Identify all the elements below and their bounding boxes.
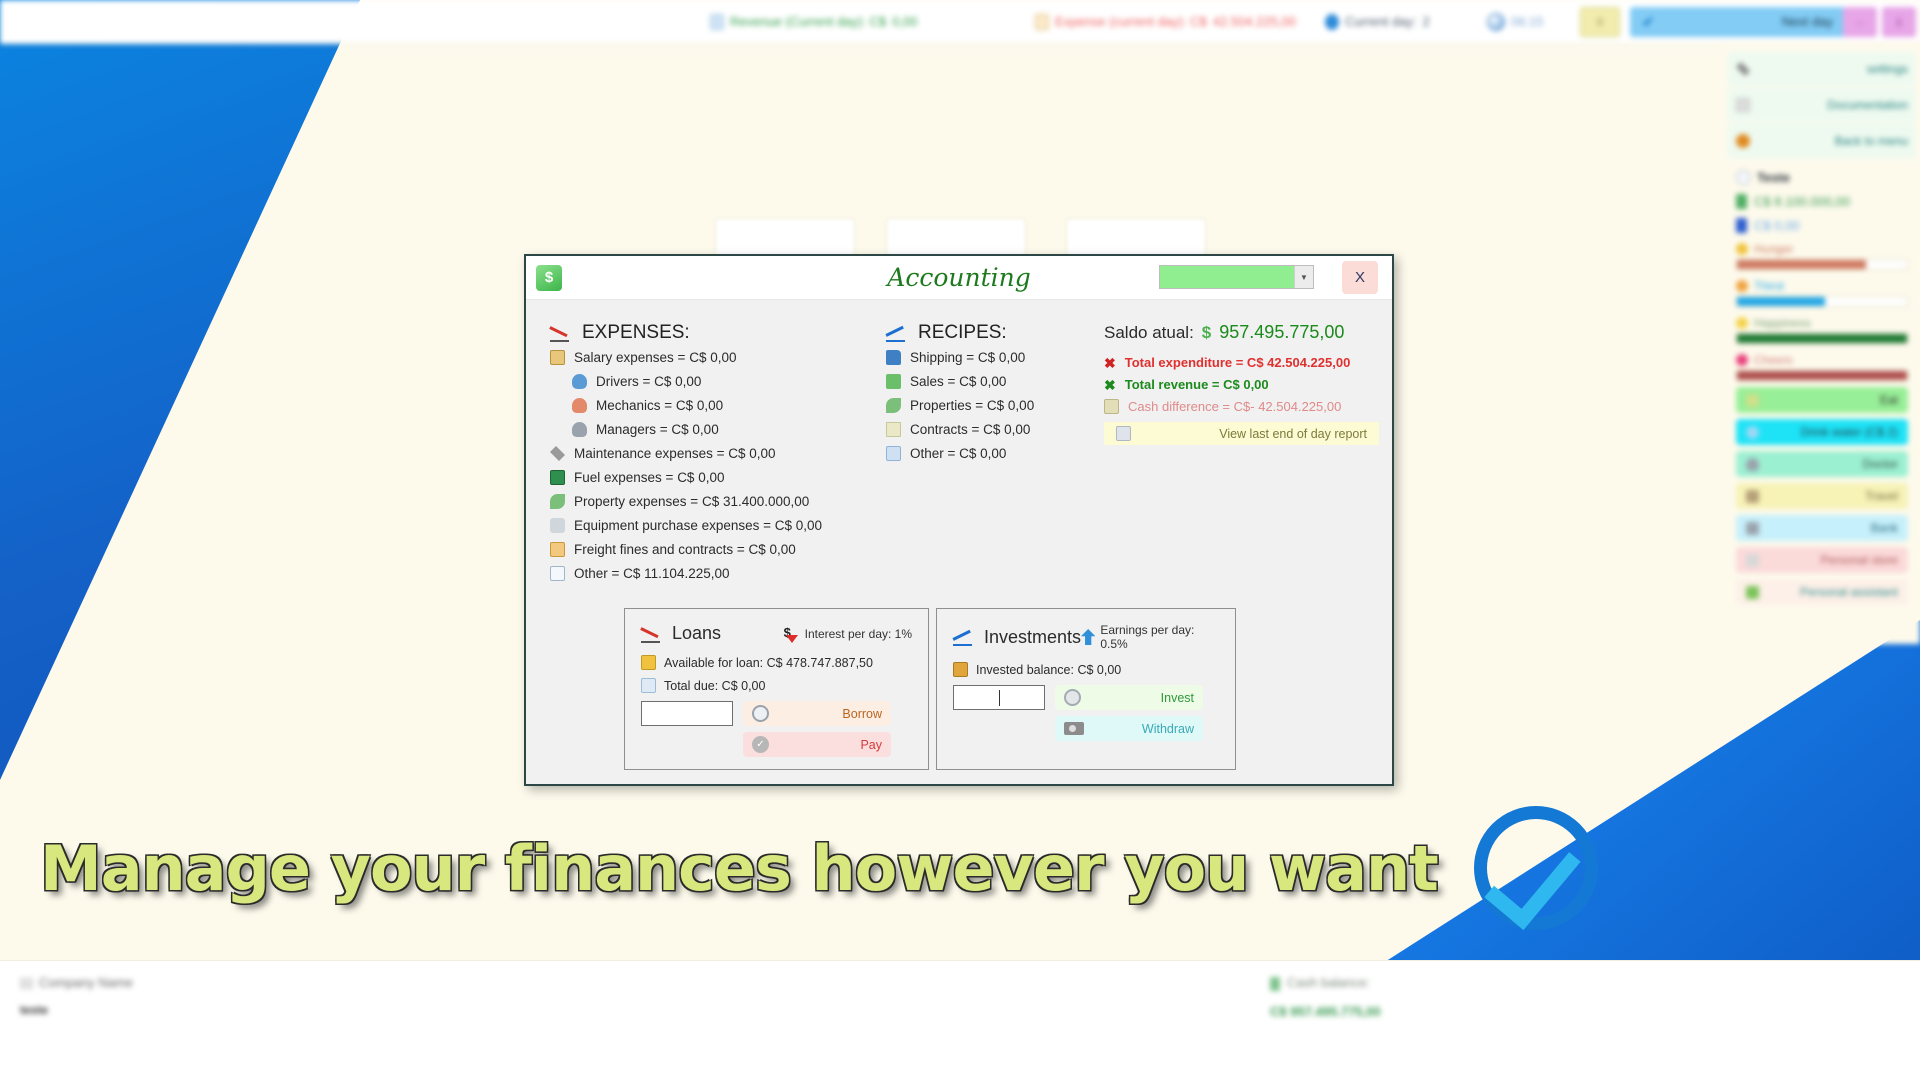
loans-header: Loans $ Interest per day: 1% [641, 623, 912, 644]
recipe-label: Shipping = C$ 0,00 [910, 350, 1025, 365]
action-personal-store-button[interactable]: Personal store [1736, 547, 1908, 573]
total-expenditure-label: Total expenditure = C$ 42.504.225,00 [1125, 355, 1351, 370]
revenue-indicator: Revenue (Current day): C$ 0,00 [710, 14, 917, 30]
view-last-report-button[interactable]: View last end of day report [1104, 422, 1379, 445]
player-cash-value: C$ 8.100.000,00 [1754, 194, 1850, 209]
cheers-bar [1736, 370, 1908, 381]
pause-button[interactable]: II [1580, 7, 1620, 37]
document-icon [550, 566, 565, 581]
x-mark-red-icon: ✖ [1104, 356, 1116, 370]
minimize-button[interactable]: – [1843, 7, 1877, 37]
equipment-icon [550, 518, 565, 533]
invest-label: Invest [1161, 691, 1194, 705]
note-icon [1104, 399, 1119, 414]
cash-balance-info: Cash balance: C$ 957.495.775,00 [1270, 975, 1381, 1019]
loans-available-label: Available for loan: C$ 478.747.887,50 [664, 656, 873, 670]
expenses-heading-row: EXPENSES: [550, 322, 870, 344]
loans-total-due-row: Total due: C$ 0,00 [641, 678, 912, 693]
pay-button[interactable]: ✓ Pay [743, 732, 891, 757]
expense-row-drivers: Drivers = C$ 0,00 [550, 374, 870, 389]
hunger-icon [1736, 243, 1748, 255]
property-icon [550, 494, 565, 509]
summary-section: Saldo atual: $ 957.495.775,00 ✖ Total ex… [1104, 322, 1379, 445]
trend-up-icon [953, 629, 975, 645]
investments-header: Investments Earnings per day: 0.5% [953, 623, 1219, 651]
investments-title: Investments [984, 627, 1081, 648]
promo-banner: Manage your finances however you want [40, 806, 1598, 930]
expense-label: Drivers = C$ 0,00 [596, 374, 701, 389]
total-expenditure-row: ✖ Total expenditure = C$ 42.504.225,00 [1104, 355, 1379, 370]
loans-title: Loans [672, 623, 721, 644]
withdraw-label: Withdraw [1142, 722, 1194, 736]
cash-icon [1736, 194, 1747, 209]
investments-balance-row: Invested balance: C$ 0,00 [953, 662, 1219, 677]
current-day-indicator: Current day: 2 [1325, 14, 1430, 30]
recipe-row-other: Other = C$ 0,00 [886, 446, 1101, 461]
sidebar-item-label: Documentation [1827, 98, 1908, 112]
recipe-label: Properties = C$ 0,00 [910, 398, 1034, 413]
bank-icon [1746, 522, 1759, 535]
expense-label: Freight fines and contracts = C$ 0,00 [574, 542, 796, 557]
loans-interest-row: $ Interest per day: 1% [784, 625, 912, 643]
happiness-icon [1736, 317, 1748, 329]
player-panel: Teste C$ 8.100.000,00 C$ 0,00 Hunger Thi… [1728, 170, 1916, 605]
invest-button[interactable]: Invest [1055, 685, 1203, 710]
banknote-icon [1064, 722, 1084, 735]
close-label: X [1895, 15, 1904, 30]
property-icon [886, 398, 901, 413]
stat-label-hunger: Hunger [1736, 242, 1908, 256]
invest-amount-input[interactable] [953, 685, 1045, 710]
expense-row-salary: Salary expenses = C$ 0,00 [550, 350, 870, 365]
stat-label-cheers: Cheers [1736, 353, 1908, 367]
minimize-label: – [1856, 15, 1863, 30]
trend-up-icon [886, 325, 908, 341]
player-cash-row: C$ 8.100.000,00 [1736, 194, 1908, 209]
clock-value: 06:15 [1511, 14, 1544, 29]
cash-label-row: Cash balance: [1270, 975, 1381, 991]
accounting-dollar-icon: $ [536, 265, 562, 291]
loan-amount-input[interactable] [641, 701, 733, 726]
investments-balance-label: Invested balance: C$ 0,00 [976, 663, 1121, 677]
dot-icon [1736, 134, 1750, 148]
saldo-value: 957.495.775,00 [1219, 322, 1344, 343]
action-label: Bank [1871, 521, 1898, 535]
wallet-icon [641, 655, 656, 670]
period-select[interactable]: ▼ [1159, 265, 1314, 289]
expense-label: Property expenses = C$ 31.400.000,00 [574, 494, 809, 509]
investments-title-row: Investments [953, 627, 1081, 648]
saldo-label: Saldo atual: [1104, 323, 1194, 343]
top-bar: Revenue (Current day): C$ 0,00 Expense (… [0, 0, 1920, 44]
total-revenue-label: Total revenue = C$ 0,00 [1125, 377, 1269, 392]
doctor-icon [1746, 458, 1759, 471]
investments-panel: Investments Earnings per day: 0.5% Inves… [936, 608, 1236, 770]
stat-name: Hunger [1754, 242, 1793, 256]
sale-icon [886, 374, 901, 389]
recipes-heading-row: RECIPES: [886, 322, 1101, 344]
store-icon [1746, 554, 1759, 567]
expense-value: 42.504.225,00 [1213, 14, 1296, 29]
company-label: Company Name [39, 975, 133, 990]
action-label: Travel [1865, 489, 1898, 503]
bank-card-icon [1736, 218, 1747, 233]
person-icon [1736, 170, 1751, 185]
truck-icon [886, 350, 901, 365]
card-icon [550, 542, 565, 557]
thirst-bar [1736, 296, 1908, 307]
dialog-body: EXPENSES: Salary expenses = C$ 0,00 Driv… [526, 300, 1392, 786]
clock-indicator: 06:15 [1487, 13, 1544, 31]
trend-down-icon [550, 325, 572, 341]
sidebar-item-label: Back to menu [1835, 134, 1908, 148]
stat-label-happiness: Happiness [1736, 316, 1908, 330]
recipe-row-properties: Properties = C$ 0,00 [886, 398, 1101, 413]
recipe-label: Contracts = C$ 0,00 [910, 422, 1030, 437]
recipe-label: Sales = C$ 0,00 [910, 374, 1006, 389]
mechanic-icon [572, 398, 587, 413]
action-eat-button[interactable]: Eat [1736, 387, 1908, 413]
next-day-label: Next day [1782, 14, 1833, 29]
expense-label: Salary expenses = C$ 0,00 [574, 350, 736, 365]
check-circle-icon [1474, 806, 1598, 930]
expenses-heading: EXPENSES: [582, 322, 690, 344]
action-personal-assistant-button[interactable]: Personal assistant [1736, 579, 1908, 605]
revenue-icon [710, 14, 724, 30]
cash-value: C$ 957.495.775,00 [1270, 1004, 1381, 1019]
loans-panel: Loans $ Interest per day: 1% Available f… [624, 608, 929, 770]
check-icon: ✔ [1642, 13, 1655, 31]
stat-name: Thirst [1754, 279, 1784, 293]
loans-total-due-label: Total due: C$ 0,00 [664, 679, 765, 693]
borrow-label: Borrow [842, 707, 882, 721]
player-bank-row: C$ 0,00 [1736, 218, 1908, 233]
happiness-bar [1736, 333, 1908, 344]
investments-earnings-label: Earnings per day: 0.5% [1100, 623, 1219, 651]
hunger-bar-fill [1737, 260, 1866, 269]
right-sidebar: settings Documentation Back to menu Test… [1720, 44, 1920, 644]
sidebar-item-back-to-menu[interactable]: Back to menu [1728, 124, 1916, 158]
sidebar-item-settings[interactable]: settings [1728, 52, 1916, 86]
expense-label: Other = C$ 11.104.225,00 [574, 566, 730, 581]
dollar-down-icon: $ [784, 625, 800, 643]
company-value: teste [20, 1003, 133, 1017]
expense-row-property: Property expenses = C$ 31.400.000,00 [550, 494, 870, 509]
expense-row-mechanics: Mechanics = C$ 0,00 [550, 398, 870, 413]
action-label: Personal assistant [1800, 585, 1898, 599]
bill-icon [641, 678, 656, 693]
expense-row-maintenance: Maintenance expenses = C$ 0,00 [550, 446, 870, 461]
thirst-bar-fill [1737, 297, 1825, 306]
expense-label: Maintenance expenses = C$ 0,00 [574, 446, 776, 461]
accounting-dialog: $ Accounting ▼ X EXPENSES: Salary expens… [524, 254, 1394, 786]
action-label: Doctor [1863, 457, 1898, 471]
expense-row-freight-fines: Freight fines and contracts = C$ 0,00 [550, 542, 870, 557]
gauge-icon [1064, 689, 1081, 706]
book-icon [1736, 98, 1750, 112]
trend-down-icon [641, 626, 663, 642]
chart-icon [886, 446, 901, 461]
recipes-heading: RECIPES: [918, 322, 1007, 344]
current-day-label: Current day: [1345, 14, 1417, 29]
loans-controls: Borrow ✓ Pay [641, 701, 912, 757]
expense-icon [1035, 14, 1049, 30]
recipe-row-shipping: Shipping = C$ 0,00 [886, 350, 1101, 365]
investments-controls: Invest Withdraw [953, 685, 1219, 741]
current-day-value: 2 [1423, 14, 1430, 29]
contract-icon [886, 422, 901, 437]
company-info: Company Name teste [20, 975, 133, 1017]
expense-row-fuel: Fuel expenses = C$ 0,00 [550, 470, 870, 485]
investments-buttons: Invest Withdraw [1055, 685, 1203, 741]
expense-row-managers: Managers = C$ 0,00 [550, 422, 870, 437]
expense-row-equipment: Equipment purchase expenses = C$ 0,00 [550, 518, 870, 533]
recipe-label: Other = C$ 0,00 [910, 446, 1006, 461]
expense-indicator: Expense (current day): C$ 42.504.225,00 [1035, 14, 1296, 30]
cash-difference-label: Cash difference = C$- 42.504.225,00 [1128, 399, 1341, 414]
info-icon [1325, 14, 1339, 30]
chevron-down-icon: ▼ [1294, 266, 1313, 288]
building-icon [20, 978, 33, 989]
sidebar-item-documentation[interactable]: Documentation [1728, 88, 1916, 122]
cash-icon [1270, 977, 1280, 991]
player-name: Teste [1757, 170, 1790, 185]
withdraw-button[interactable]: Withdraw [1055, 716, 1203, 741]
company-label-row: Company Name [20, 975, 133, 990]
recipes-section: RECIPES: Shipping = C$ 0,00 Sales = C$ 0… [886, 322, 1101, 470]
action-bank-button[interactable]: Bank [1736, 515, 1908, 541]
clock-icon [752, 705, 769, 722]
clock-icon [1487, 13, 1505, 31]
investments-earnings-row: Earnings per day: 0.5% [1081, 623, 1219, 651]
expense-label: Fuel expenses = C$ 0,00 [574, 470, 724, 485]
loans-interest-label: Interest per day: 1% [805, 627, 912, 641]
expense-label: Mechanics = C$ 0,00 [596, 398, 723, 413]
expense-label: Equipment purchase expenses = C$ 0,00 [574, 518, 822, 533]
food-icon [1746, 394, 1759, 407]
cash-difference-row: Cash difference = C$- 42.504.225,00 [1104, 399, 1379, 414]
view-last-report-label: View last end of day report [1219, 427, 1367, 441]
assistant-icon [1746, 586, 1759, 599]
sidebar-item-label: settings [1867, 62, 1908, 76]
x-mark-green-icon: ✖ [1104, 378, 1116, 392]
loans-title-row: Loans [641, 623, 721, 644]
pay-label: Pay [860, 738, 882, 752]
pause-label: II [1597, 15, 1604, 29]
wrench-icon [550, 446, 565, 461]
loans-buttons: Borrow ✓ Pay [743, 701, 891, 757]
revenue-label: Revenue (Current day): C$ [730, 14, 886, 29]
people-icon [572, 374, 587, 389]
player-name-row: Teste [1736, 170, 1908, 185]
loans-available-row: Available for loan: C$ 478.747.887,50 [641, 655, 912, 670]
report-icon [1116, 426, 1131, 441]
cheers-bar-fill [1737, 371, 1907, 380]
suitcase-icon [1746, 490, 1759, 503]
action-label: Eat [1880, 393, 1898, 407]
bottom-status-bar: Company Name teste Cash balance: C$ 957.… [0, 960, 1920, 1080]
recipe-row-sales: Sales = C$ 0,00 [886, 374, 1101, 389]
expenses-section: EXPENSES: Salary expenses = C$ 0,00 Driv… [550, 322, 870, 590]
current-balance-row: Saldo atual: $ 957.495.775,00 [1104, 322, 1379, 343]
treasure-icon [953, 662, 968, 677]
hunger-bar [1736, 259, 1908, 270]
cash-label: Cash balance: [1287, 975, 1370, 990]
money-icon [550, 350, 565, 365]
expense-row-other: Other = C$ 11.104.225,00 [550, 566, 870, 581]
next-day-button[interactable]: ✔ Next day [1630, 7, 1845, 37]
stat-label-thirst: Thirst [1736, 279, 1908, 293]
stat-name: Happiness [1754, 316, 1811, 330]
wrench-icon [1736, 62, 1750, 76]
action-doctor-button[interactable]: Doctor [1736, 451, 1908, 477]
action-label: Drink water (C$ 2) [1801, 425, 1898, 439]
cheers-icon [1736, 354, 1748, 366]
promo-banner-text: Manage your finances however you want [40, 832, 1438, 905]
check-circle-icon: ✓ [752, 736, 769, 753]
revenue-value: 0,00 [892, 14, 917, 29]
recipe-row-contracts: Contracts = C$ 0,00 [886, 422, 1101, 437]
manager-icon [572, 422, 587, 437]
expense-label: Managers = C$ 0,00 [596, 422, 719, 437]
borrow-button[interactable]: Borrow [743, 701, 891, 726]
action-travel-button[interactable]: Travel [1736, 483, 1908, 509]
expense-label: Expense (current day): C$ [1055, 14, 1207, 29]
dialog-close-label: X [1355, 269, 1365, 286]
dialog-icon-label: $ [545, 269, 553, 286]
total-revenue-row: ✖ Total revenue = C$ 0,00 [1104, 377, 1379, 392]
water-drop-icon [1746, 426, 1759, 439]
happiness-bar-fill [1737, 334, 1907, 343]
arrow-up-icon [1081, 629, 1095, 645]
dialog-title-bar: $ Accounting ▼ X [526, 256, 1392, 300]
action-label: Personal store [1821, 553, 1898, 567]
player-bank-value: C$ 0,00 [1754, 218, 1800, 233]
dialog-close-button[interactable]: X [1342, 261, 1378, 294]
window-close-button[interactable]: X [1882, 7, 1916, 37]
dollar-icon: $ [1202, 324, 1211, 341]
fuel-pump-icon [550, 470, 565, 485]
thirst-icon [1736, 280, 1748, 292]
action-drink-water-button[interactable]: Drink water (C$ 2) [1736, 419, 1908, 445]
stat-name: Cheers [1754, 353, 1793, 367]
